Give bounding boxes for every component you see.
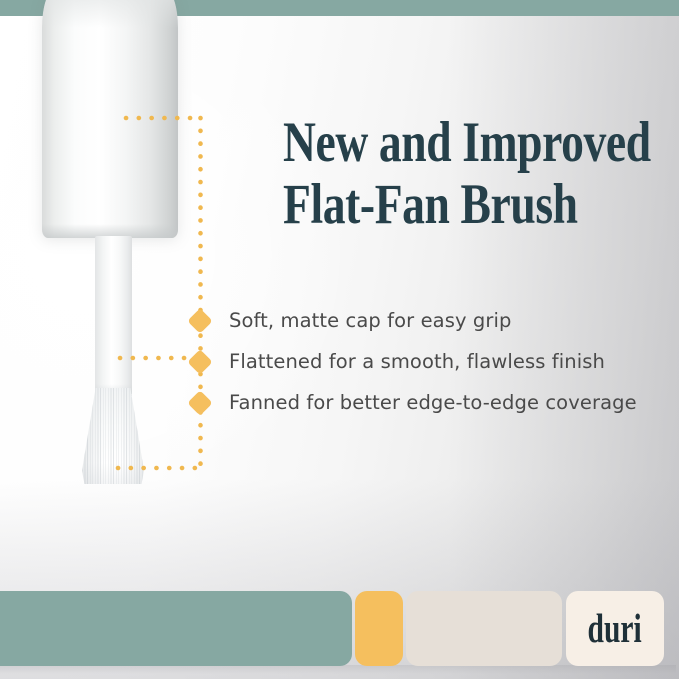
list-item-label: Fanned for better edge-to-edge coverage bbox=[229, 393, 637, 413]
brand-logo: duri bbox=[588, 608, 642, 649]
feature-list: Soft, matte cap for easy grip Flattened … bbox=[185, 300, 665, 423]
footer-segment-brand: duri bbox=[566, 591, 664, 666]
list-item: Soft, matte cap for easy grip bbox=[185, 300, 665, 341]
footer-segment-beige bbox=[406, 591, 562, 666]
footer-segment-green bbox=[0, 591, 352, 666]
brush-handle bbox=[95, 236, 132, 394]
list-item-label: Soft, matte cap for easy grip bbox=[229, 311, 512, 331]
product-photo bbox=[0, 0, 230, 520]
diamond-bullet-icon bbox=[187, 390, 212, 415]
footer-drop-shadow bbox=[0, 665, 676, 674]
headline: New and Improved Flat-Fan Brush bbox=[283, 112, 587, 236]
headline-line-1: New and Improved bbox=[283, 111, 651, 174]
list-item: Fanned for better edge-to-edge coverage bbox=[185, 382, 665, 423]
footer-segment-gold bbox=[355, 591, 403, 666]
list-item-label: Flattened for a smooth, flawless finish bbox=[229, 352, 605, 372]
cap-top-shading bbox=[42, 0, 178, 28]
brush-bristles-shading bbox=[82, 388, 144, 484]
footer-color-bar: duri bbox=[0, 579, 679, 679]
diamond-bullet-icon bbox=[187, 308, 212, 333]
diamond-bullet-icon bbox=[187, 349, 212, 374]
product-infographic: New and Improved Flat-Fan Brush Soft, ma… bbox=[0, 0, 679, 679]
polish-cap bbox=[42, 0, 178, 238]
headline-line-2: Flat-Fan Brush bbox=[283, 174, 587, 236]
list-item: Flattened for a smooth, flawless finish bbox=[185, 341, 665, 382]
